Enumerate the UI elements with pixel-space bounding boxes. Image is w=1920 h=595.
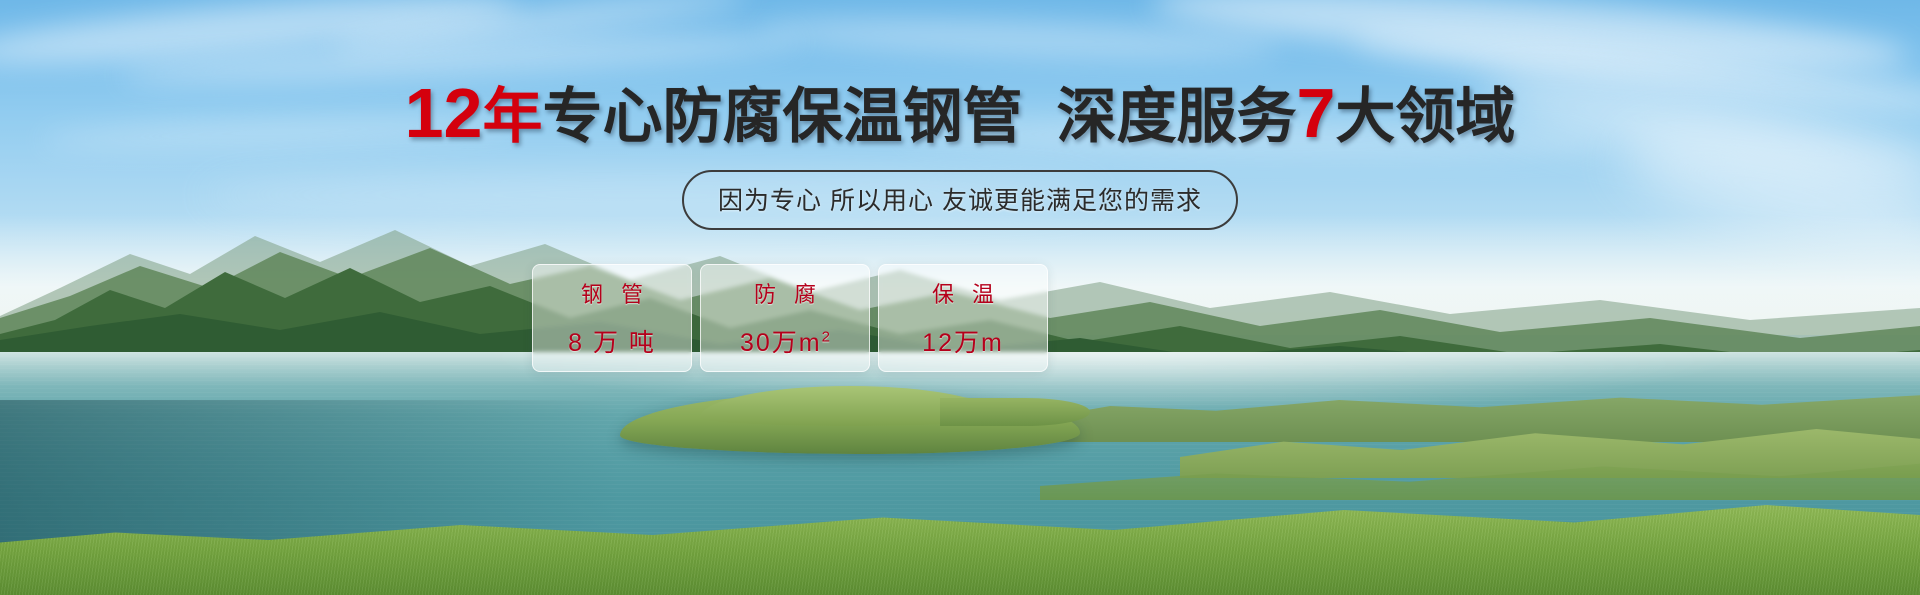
headline-part-one: 专心防腐保温钢管 xyxy=(542,87,1022,147)
headline-years-unit: 年 xyxy=(482,87,542,147)
stat-card-value: 8 万 吨 xyxy=(568,323,656,359)
stat-card-title: 防 腐 xyxy=(748,277,822,309)
stat-card-title: 保 温 xyxy=(926,277,1000,309)
headline-part-two: 深度服务 xyxy=(1056,87,1296,147)
headline-fields-number: 7 xyxy=(1296,78,1335,148)
stat-card-value-superscript: 2 xyxy=(822,329,830,346)
subtitle-pill: 因为专心 所以用心 友诚更能满足您的需求 xyxy=(682,170,1238,230)
stat-card-anticorrosion[interactable]: 防 腐 30万m2 xyxy=(700,264,870,372)
stat-card-group: 钢 管 8 万 吨 防 腐 30万m2 保 温 12万m xyxy=(532,264,1048,372)
stat-card-title: 钢 管 xyxy=(575,277,649,309)
headline-part-three: 大领域 xyxy=(1335,87,1515,147)
hero-banner: 12 年 专心防腐保温钢管 深度服务 7 大领域 因为专心 所以用心 友诚更能满… xyxy=(0,0,1920,595)
headline-years-number: 12 xyxy=(405,78,483,148)
headline: 12 年 专心防腐保温钢管 深度服务 7 大领域 xyxy=(405,78,1516,148)
stat-card-value-text: 8 万 吨 xyxy=(568,329,656,357)
stat-card-value: 12万m xyxy=(922,323,1004,359)
stat-card-insulation[interactable]: 保 温 12万m xyxy=(878,264,1048,372)
stat-card-value-text: 30万m xyxy=(740,329,822,357)
stat-card-value-text: 12万m xyxy=(922,329,1004,357)
subtitle-text: 因为专心 所以用心 友诚更能满足您的需求 xyxy=(718,181,1202,217)
stat-card-steel-pipe[interactable]: 钢 管 8 万 吨 xyxy=(532,264,692,372)
stat-card-value: 30万m2 xyxy=(740,323,830,359)
